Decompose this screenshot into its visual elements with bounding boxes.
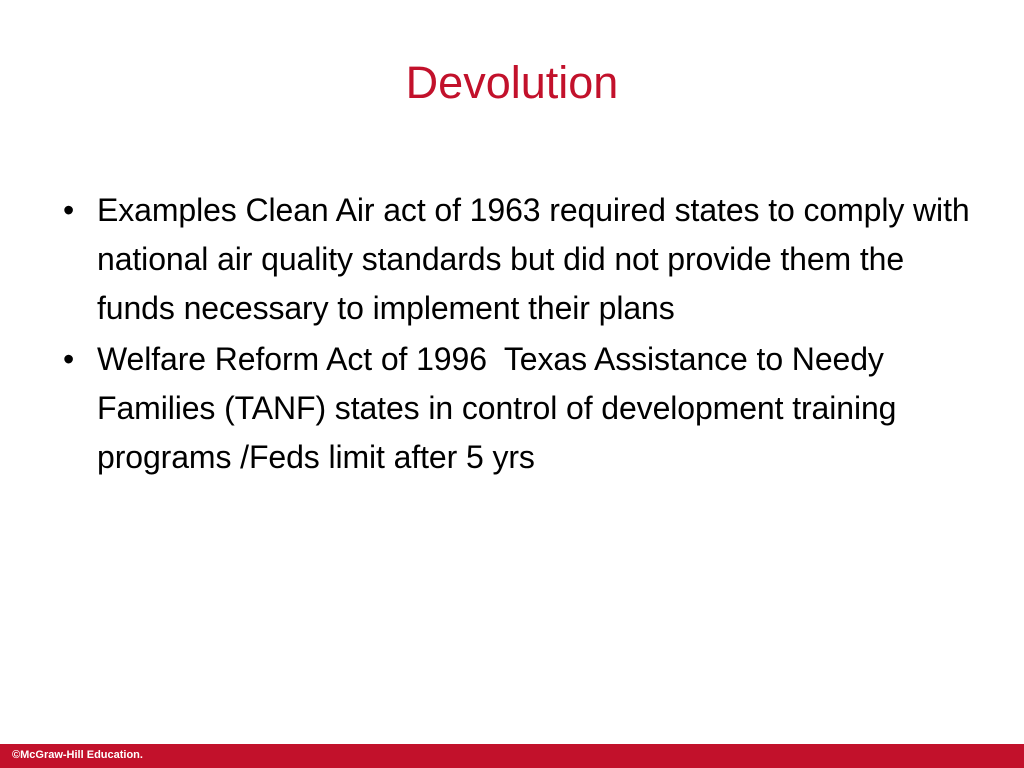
bullet-point-icon: • — [56, 335, 97, 384]
page-title: Devolution — [0, 57, 1024, 109]
bullet-text: Examples Clean Air act of 1963 required … — [97, 186, 986, 333]
footer-bar: ©McGraw-Hill Education. — [0, 744, 1024, 768]
bullet-point-icon: • — [56, 186, 97, 235]
copyright-notice: ©McGraw-Hill Education. — [12, 748, 143, 763]
slide-canvas: Devolution • Examples Clean Air act of 1… — [0, 0, 1024, 768]
list-item: • Examples Clean Air act of 1963 require… — [56, 186, 986, 333]
list-item: • Welfare Reform Act of 1996 Texas Assis… — [56, 335, 986, 482]
bullet-text: Welfare Reform Act of 1996 Texas Assista… — [97, 335, 986, 482]
slide-content-body: • Examples Clean Air act of 1963 require… — [56, 186, 986, 482]
